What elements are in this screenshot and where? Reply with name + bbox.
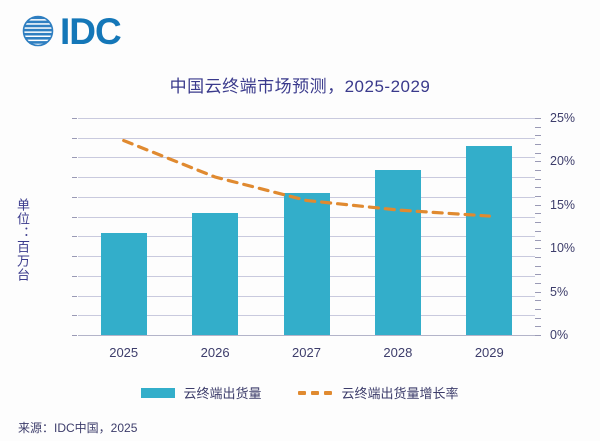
y-tick-right <box>535 300 541 301</box>
y-axis-title: 单位：百万台 <box>12 198 32 282</box>
legend-label-shipments: 云终端出货量 <box>183 383 261 402</box>
y-tick-right <box>535 309 541 310</box>
chart-legend: 云终端出货量 云终端出货量增长率 <box>0 383 600 402</box>
y-tick-right <box>535 335 541 336</box>
chart-canvas: 单位：百万台 01234567891011 0%5%10%15%20%25% 2… <box>0 0 600 441</box>
legend-label-growth-rate: 云终端出货量增长率 <box>342 383 459 402</box>
y-tick-right <box>535 283 541 284</box>
legend-item-growth-rate[interactable]: 云终端出货量增长率 <box>298 383 459 402</box>
y-tick-right <box>535 240 541 241</box>
x-tick-label-2029: 2029 <box>459 345 519 360</box>
y-tick-right <box>535 170 541 171</box>
y-tick-right <box>535 153 541 154</box>
source-note: 来源：IDC中国，2025 <box>18 419 137 436</box>
y-tick-label-right: 15% <box>550 198 596 212</box>
y-tick-right <box>535 257 541 258</box>
y-tick-right <box>535 326 541 327</box>
y-tick-label-right: 10% <box>550 241 596 255</box>
y-tick-right <box>535 222 541 223</box>
y-tick-right <box>535 266 541 267</box>
y-tick-right <box>535 318 541 319</box>
y-tick-right <box>535 196 541 197</box>
y-tick-right <box>535 135 541 136</box>
y-tick-label-right: 20% <box>550 154 596 168</box>
y-tick-left <box>72 118 77 119</box>
y-tick-left <box>72 236 77 237</box>
y-tick-label-right: 0% <box>550 328 596 342</box>
y-tick-left <box>72 138 77 139</box>
y-tick-left <box>72 335 77 336</box>
y-tick-right <box>535 205 541 206</box>
gridline <box>78 335 535 336</box>
y-tick-left <box>72 197 77 198</box>
x-tick-label-2027: 2027 <box>277 345 337 360</box>
y-tick-left <box>72 296 77 297</box>
y-tick-left <box>72 256 77 257</box>
y-tick-left <box>72 217 77 218</box>
legend-bar-swatch <box>141 388 175 398</box>
plot-area: 01234567891011 0%5%10%15%20%25% <box>78 118 535 335</box>
y-tick-left <box>72 177 77 178</box>
legend-line-swatch <box>298 388 334 398</box>
x-tick-label-2025: 2025 <box>94 345 154 360</box>
line-series <box>78 118 535 335</box>
y-tick-right <box>535 248 541 249</box>
y-tick-label-right: 5% <box>550 285 596 299</box>
y-tick-right <box>535 144 541 145</box>
y-tick-label-right: 25% <box>550 111 596 125</box>
y-tick-right <box>535 179 541 180</box>
y-tick-right <box>535 118 541 119</box>
y-tick-right <box>535 231 541 232</box>
y-tick-right <box>535 274 541 275</box>
y-tick-left <box>72 276 77 277</box>
y-tick-right <box>535 213 541 214</box>
y-tick-right <box>535 292 541 293</box>
y-tick-right <box>535 127 541 128</box>
legend-item-shipments[interactable]: 云终端出货量 <box>141 383 261 402</box>
y-tick-left <box>72 157 77 158</box>
x-tick-label-2028: 2028 <box>368 345 428 360</box>
y-tick-right <box>535 161 541 162</box>
y-tick-left <box>72 315 77 316</box>
y-tick-right <box>535 187 541 188</box>
x-tick-label-2026: 2026 <box>185 345 245 360</box>
